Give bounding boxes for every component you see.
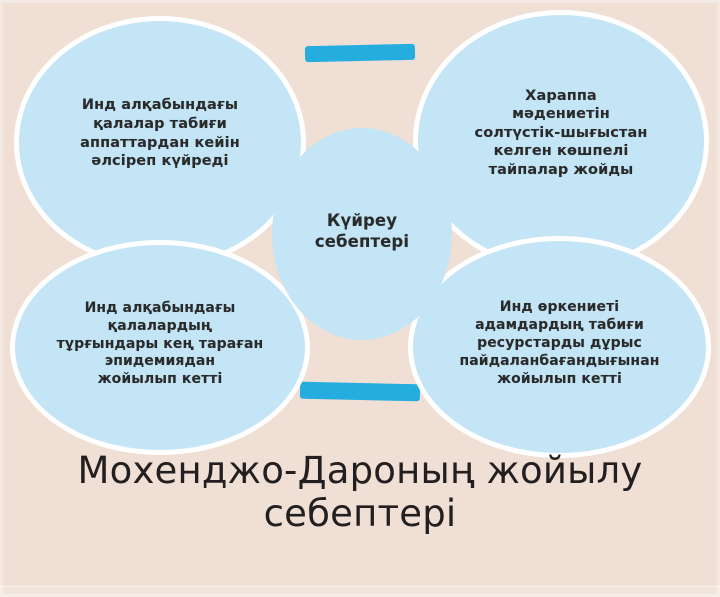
diagram-node-bottom-left[interactable]: Инд алқабындағы қалалардың тұрғындары ке… [10,240,310,455]
diagram-center-hub[interactable]: Күйреу себептері [272,128,452,340]
diagram-caption-line-2: себептері [0,493,720,536]
diagram-node-bottom-left-label: Инд алқабындағы қалалардың тұрғындары ке… [51,300,270,390]
cycle-diagram: Инд алқабындағы қалалар табиғи аппаттард… [0,0,720,452]
diagram-node-top-right-label: Хараппа мәдениетін солтүстік-шығыстан ке… [469,87,654,180]
slide-canvas: Инд алқабындағы қалалар табиғи аппаттард… [0,0,720,597]
diagram-node-top-left-label: Инд алқабындағы қалалар табиғи аппаттард… [74,96,246,170]
diagram-caption-line-1: Мохенджо-Дароның жойылу [0,450,720,493]
diagram-center-hub-label: Күйреу себептері [309,210,415,252]
connector-bar-top [305,44,415,62]
connector-bar-bottom [300,382,420,402]
diagram-node-top-left[interactable]: Инд алқабындағы қалалар табиғи аппаттард… [14,16,306,269]
diagram-caption: Мохенджо-Дароның жойылу себептері [0,450,720,535]
diagram-node-bottom-right-label: Инд өркениеті адамдардың табиғи ресурста… [453,299,665,389]
diagram-node-bottom-right[interactable]: Инд өркениеті адамдардың табиғи ресурста… [408,236,711,458]
diagram-node-top-right[interactable]: Хараппа мәдениетін солтүстік-шығыстан ке… [413,10,709,272]
slide-bottom-edge [0,586,720,597]
